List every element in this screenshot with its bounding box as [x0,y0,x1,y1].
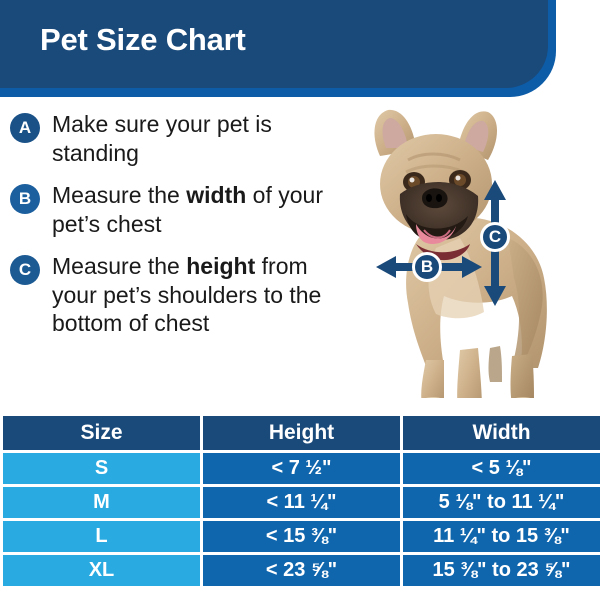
cell-height: < 15 ⅜" [203,521,400,552]
cell-width: 15 ⅜" to 23 ⅝" [403,555,600,586]
step-text-a: Make sure your pet is standing [52,110,360,167]
step-badge-a: A [10,113,40,143]
cell-height: < 23 ⅝" [203,555,400,586]
step-badge-b: B [10,184,40,214]
page-title: Pet Size Chart [40,22,246,58]
instruction-step-b: B Measure the width of your pet’s chest [0,181,360,238]
table-row: M < 11 ¼" 5 ⅛" to 11 ¼" [3,487,600,518]
instruction-list: A Make sure your pet is standing B Measu… [0,110,360,352]
cell-height: < 7 ½" [203,453,400,484]
table-row: L < 15 ⅜" 11 ¼" to 15 ⅜" [3,521,600,552]
cell-width: 11 ¼" to 15 ⅜" [403,521,600,552]
instruction-step-a: A Make sure your pet is standing [0,110,360,167]
column-header-width: Width [403,416,600,450]
page-header: Pet Size Chart [0,0,600,100]
column-header-size: Size [3,416,200,450]
instruction-step-c: C Measure the height from your pet’s sho… [0,252,360,338]
cell-size: L [3,521,200,552]
table-row: XL < 23 ⅝" 15 ⅜" to 23 ⅝" [3,555,600,586]
cell-height: < 11 ¼" [203,487,400,518]
step-text-c: Measure the height from your pet’s shoul… [52,252,360,338]
step-text-b: Measure the width of your pet’s chest [52,181,360,238]
cell-width: < 5 ⅛" [403,453,600,484]
size-chart-table: Size Height Width S < 7 ½" < 5 ⅛" M < 11… [0,413,600,589]
cell-size: M [3,487,200,518]
height-arrow-badge: C [480,222,510,252]
cell-size: XL [3,555,200,586]
french-bulldog-figure [340,98,600,398]
pet-illustration [340,98,600,398]
column-header-height: Height [203,416,400,450]
cell-size: S [3,453,200,484]
step-badge-c: C [10,255,40,285]
table-row: S < 7 ½" < 5 ⅛" [3,453,600,484]
table-header-row: Size Height Width [3,416,600,450]
width-arrow-badge: B [412,252,442,282]
cell-width: 5 ⅛" to 11 ¼" [403,487,600,518]
